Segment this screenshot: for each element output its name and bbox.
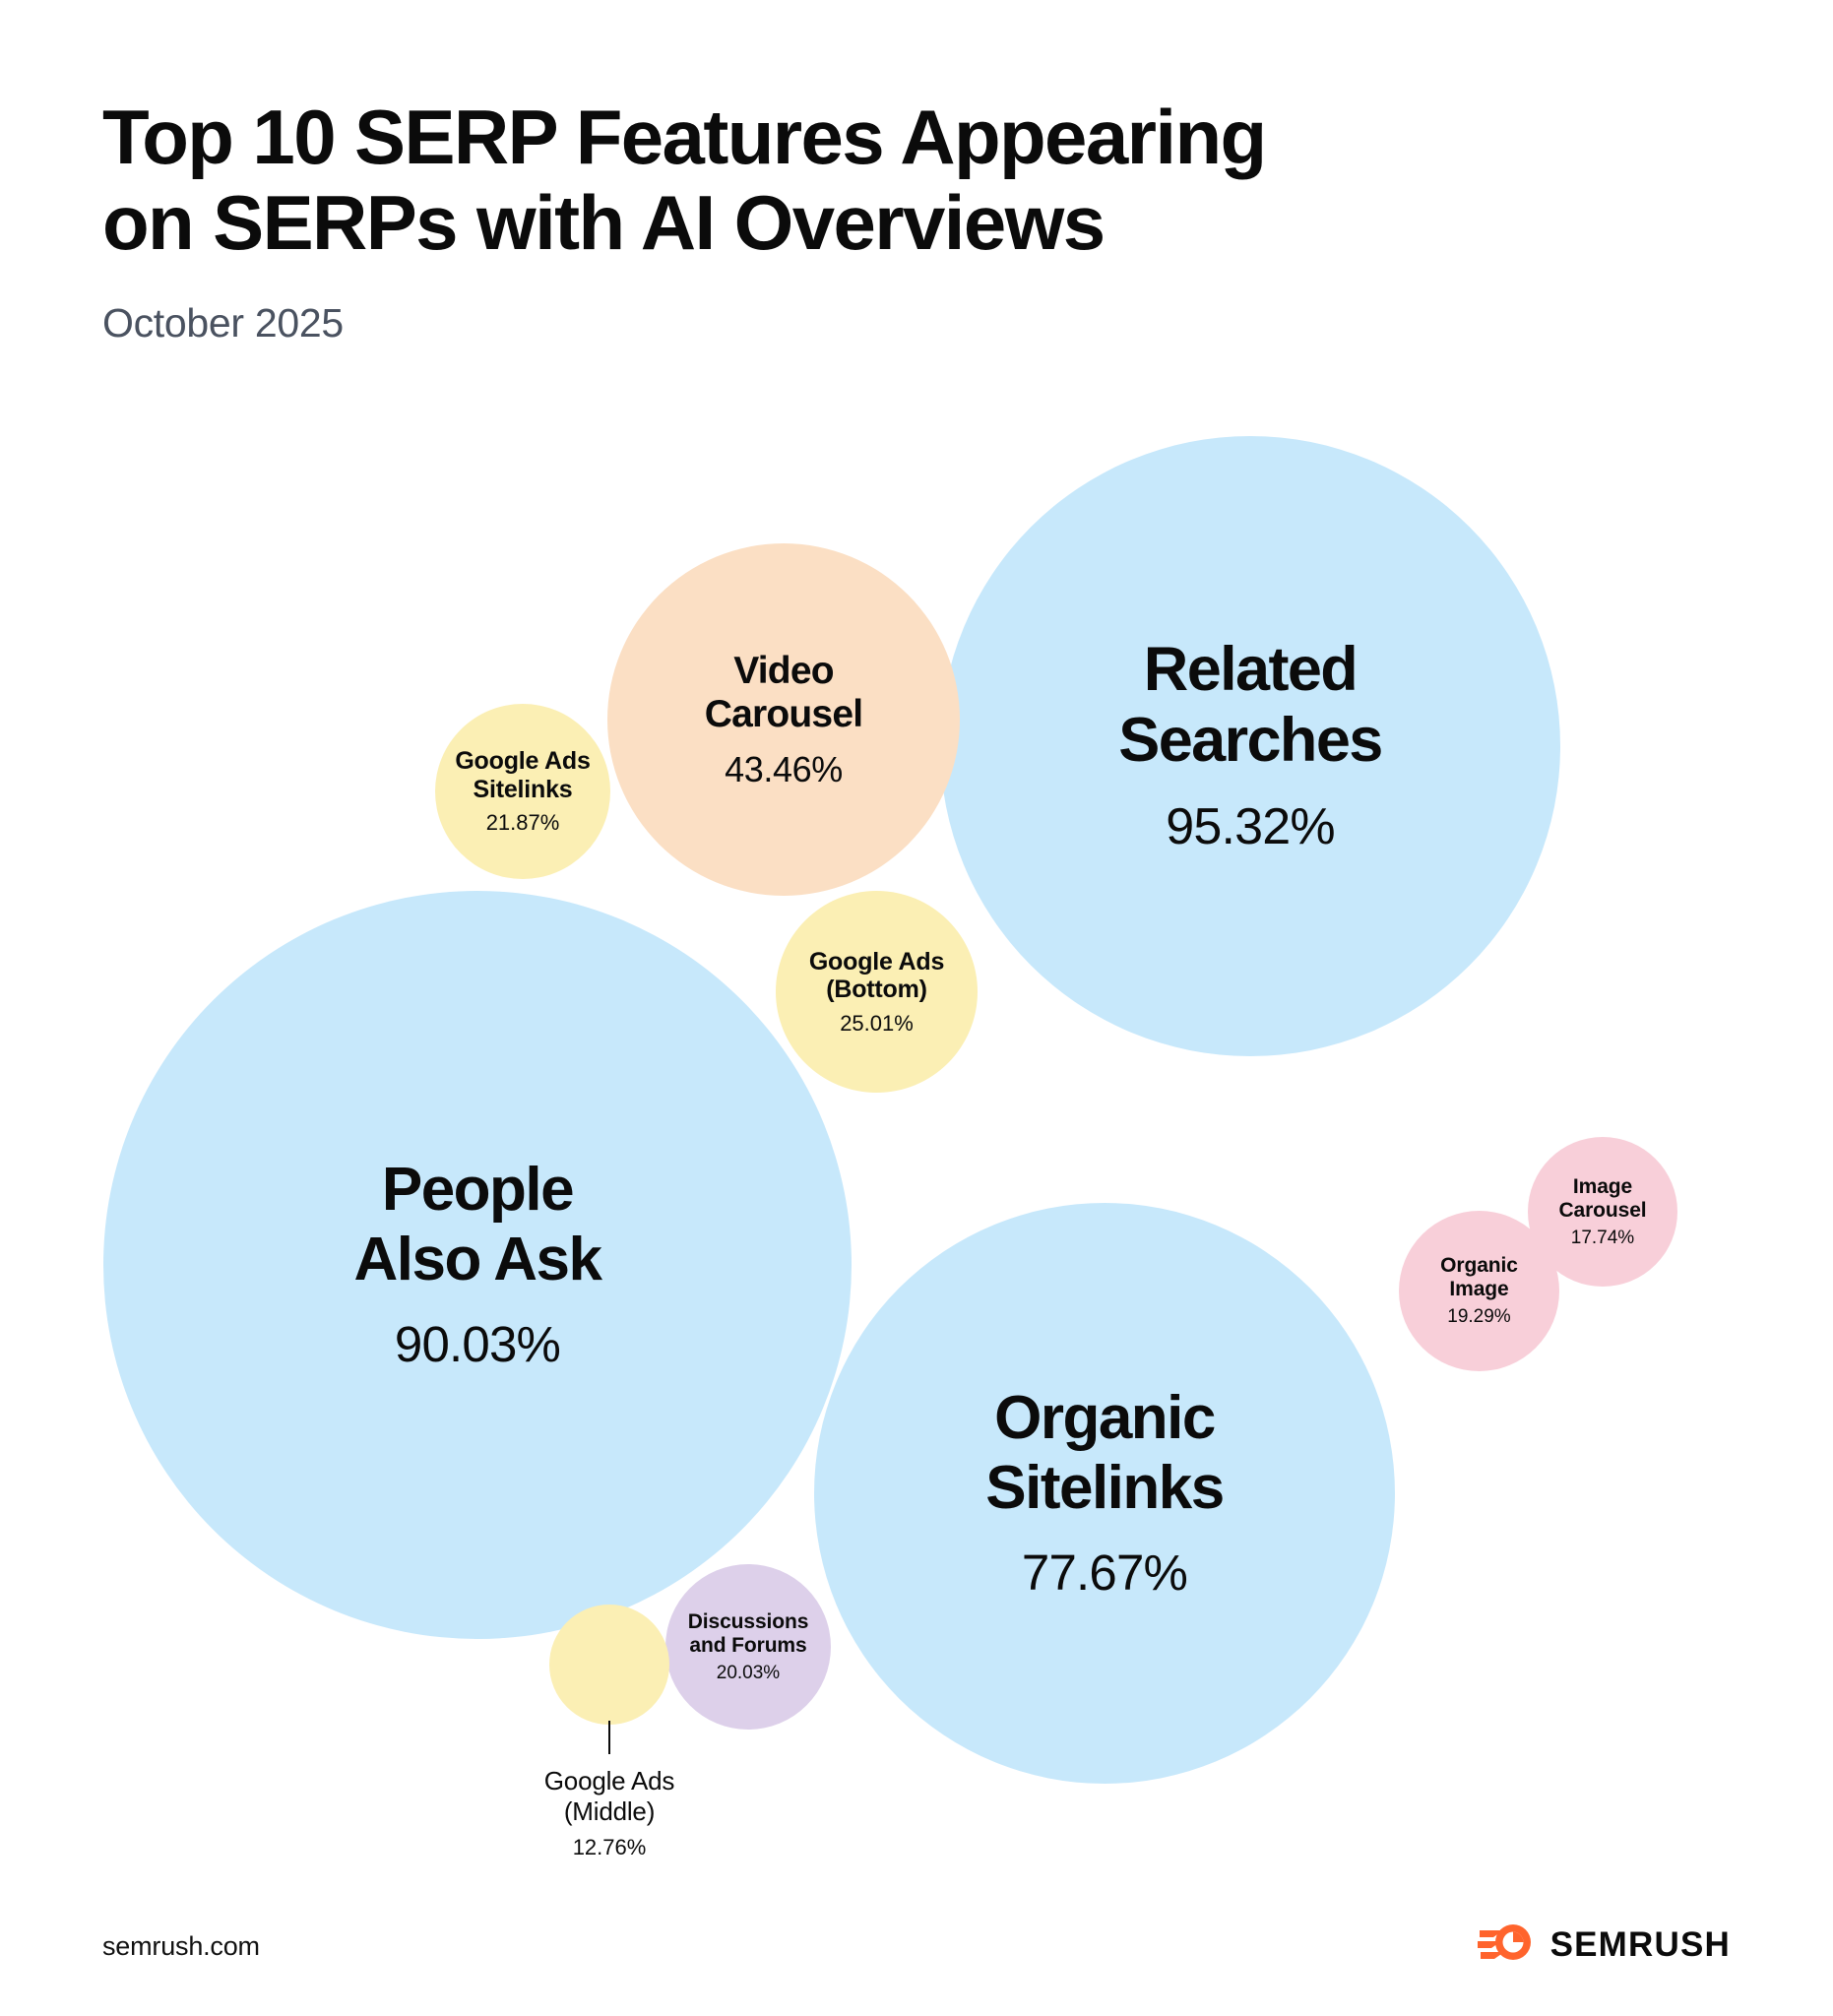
callout-value: 12.76% [462, 1835, 757, 1860]
bubble-label: People Also Ask [353, 1156, 600, 1294]
bubble-value: 90.03% [395, 1316, 560, 1374]
bubble-label: Discussions and Forums [688, 1610, 809, 1658]
bubble-related-searches[interactable]: Related Searches 95.32% [940, 436, 1560, 1056]
bubble-discussions-and-forums[interactable]: Discussions and Forums 20.03% [665, 1564, 831, 1730]
bubble-google-ads-bottom[interactable]: Google Ads (Bottom) 25.01% [776, 891, 978, 1093]
bubble-label: Google Ads Sitelinks [455, 747, 590, 803]
bubble-value: 25.01% [840, 1011, 914, 1036]
bubble-label: Google Ads (Bottom) [809, 948, 944, 1004]
bubble-value: 21.87% [486, 810, 560, 835]
semrush-comet-icon [1478, 1921, 1535, 1968]
bubble-organic-sitelinks[interactable]: Organic Sitelinks 77.67% [814, 1203, 1395, 1784]
callout-label: Google Ads (Middle) [462, 1766, 757, 1827]
bubble-value: 17.74% [1571, 1228, 1634, 1249]
bubble-value: 95.32% [1166, 798, 1335, 857]
semrush-wordmark: SEMRUSH [1550, 1925, 1731, 1965]
footer-url[interactable]: semrush.com [102, 1931, 260, 1962]
bubble-video-carousel[interactable]: Video Carousel 43.46% [607, 543, 960, 896]
bubble-label: Related Searches [1118, 635, 1381, 777]
bubble-google-ads-middle[interactable] [549, 1605, 669, 1725]
bubble-value: 77.67% [1022, 1544, 1187, 1603]
bubble-label: Organic Sitelinks [985, 1384, 1224, 1523]
bubble-label: Organic Image [1440, 1254, 1518, 1301]
bubble-label: Video Carousel [705, 650, 863, 737]
bubble-value: 43.46% [725, 749, 843, 789]
bubble-value: 19.29% [1447, 1306, 1510, 1328]
bubble-google-ads-sitelinks[interactable]: Google Ads Sitelinks 21.87% [435, 704, 610, 879]
callout-google-ads-middle: Google Ads (Middle) 12.76% [462, 1721, 757, 1860]
semrush-logo: SEMRUSH [1478, 1921, 1731, 1968]
bubble-label: Image Carousel [1558, 1175, 1646, 1223]
infographic-page: Top 10 SERP Features Appearing on SERPs … [0, 0, 1833, 2016]
bubble-image-carousel[interactable]: Image Carousel 17.74% [1528, 1137, 1677, 1287]
bubble-chart: Related Searches 95.32% People Also Ask … [0, 0, 1833, 2016]
bubble-value: 20.03% [717, 1663, 780, 1684]
bubble-people-also-ask[interactable]: People Also Ask 90.03% [103, 891, 852, 1639]
callout-leader-line [608, 1721, 610, 1754]
